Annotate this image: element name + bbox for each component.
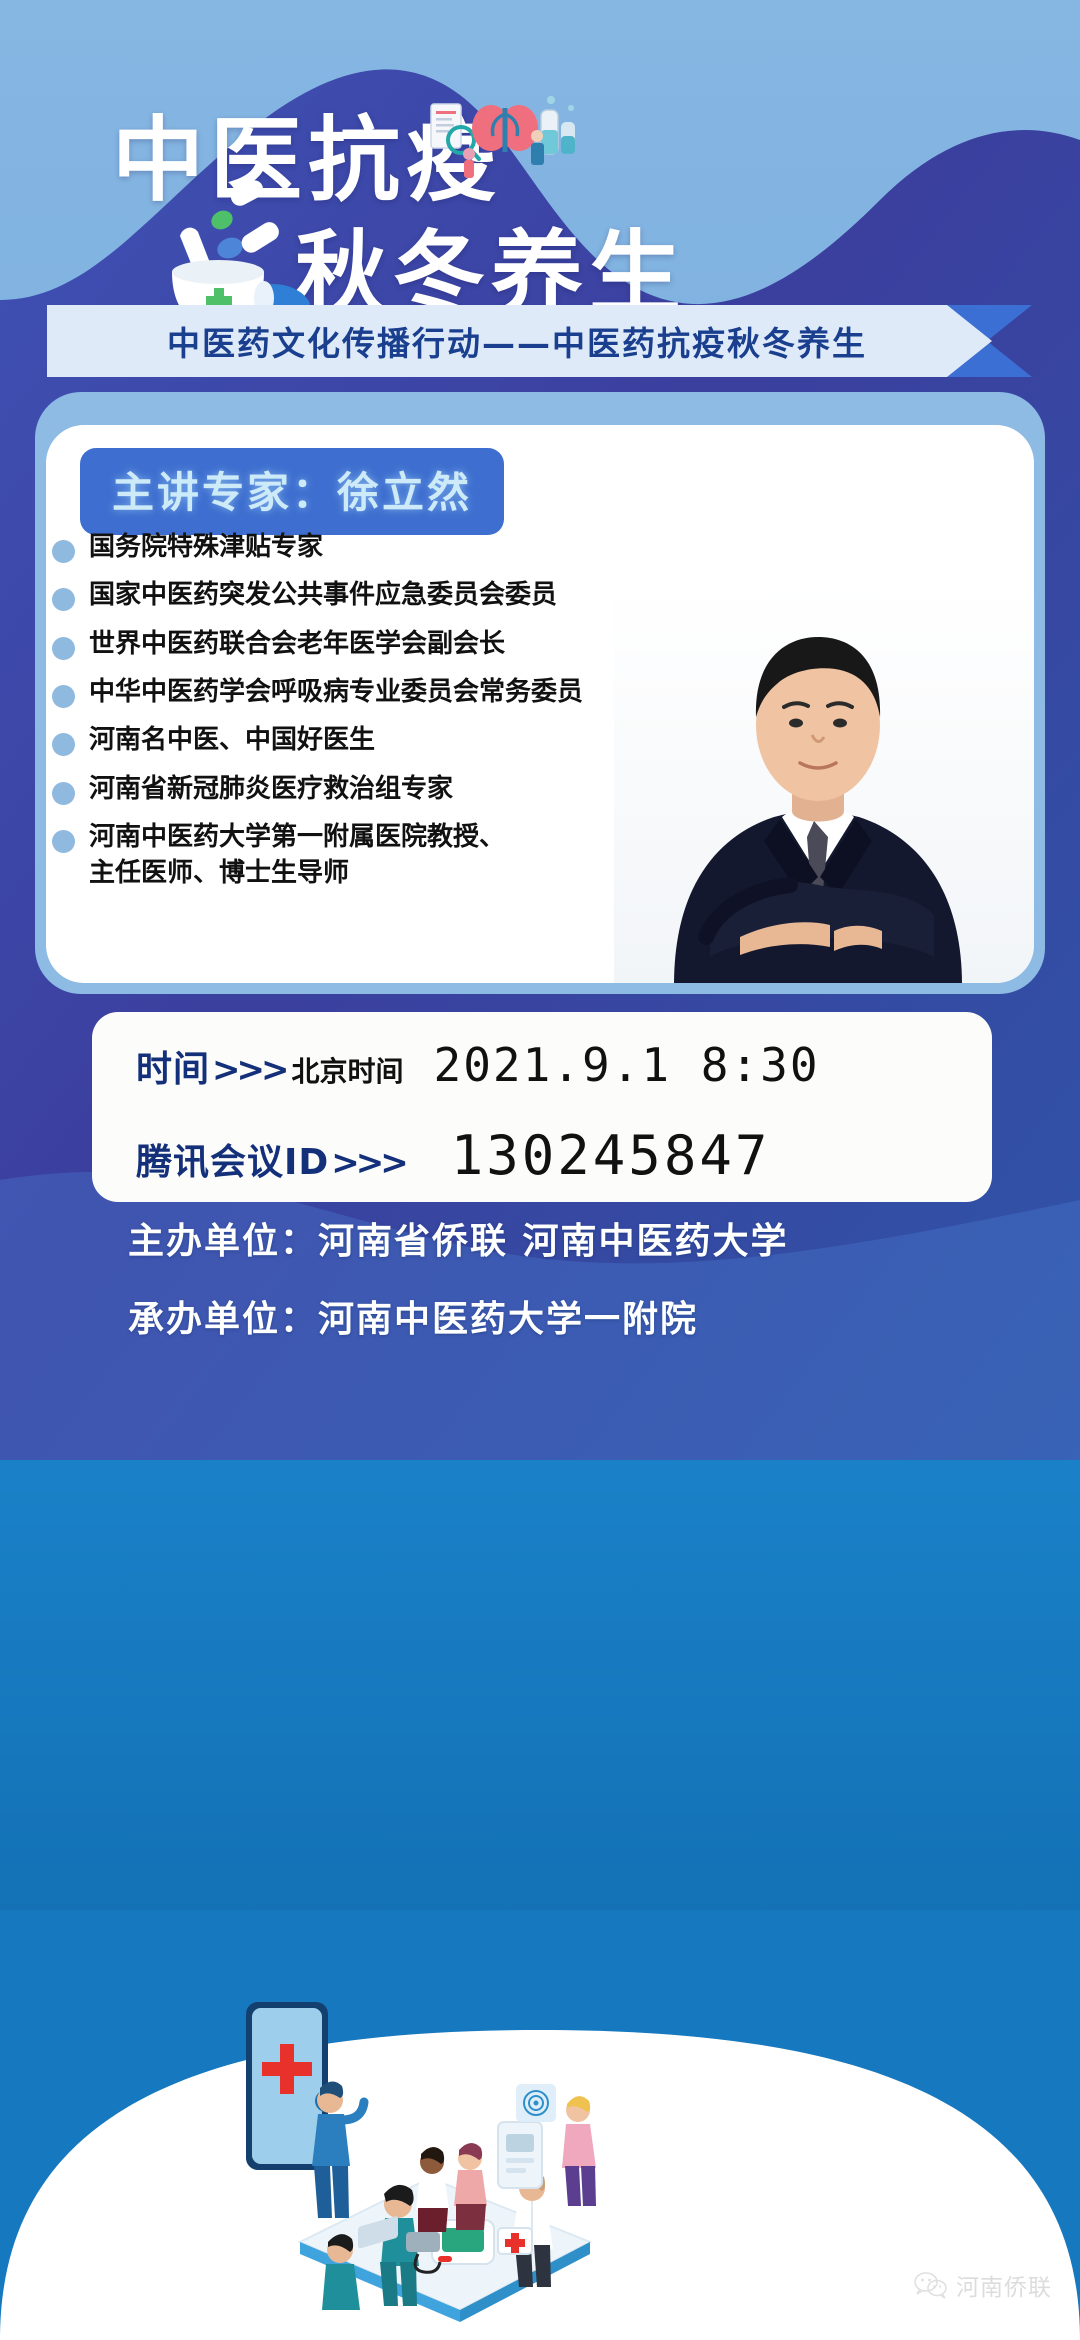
co-host-organizer: 承办单位：河南中医药大学一附院: [128, 1290, 698, 1342]
time-value: 2021.9.1 8:30: [434, 1038, 820, 1092]
timezone-label: 北京时间: [291, 1050, 403, 1090]
bullet-dot-icon: [52, 637, 75, 660]
subtitle-text: 中医药文化传播行动——中医药抗疫秋冬养生: [47, 305, 987, 377]
bullet-dot-icon: [52, 540, 75, 563]
credential-text: 河南中医药大学第一附属医院教授、 主任医师、博士生导师: [89, 820, 505, 891]
speaker-portrait: [614, 585, 1034, 983]
time-label: 时间: [136, 1040, 210, 1092]
watermark: 河南侨联: [914, 2268, 1052, 2302]
list-item: 中华中医药学会呼吸病专业委员会常务委员: [52, 675, 612, 710]
list-item: 国务院特殊津贴专家: [52, 530, 612, 565]
meeting-id-row: 腾讯会议ID >>> 130245847: [136, 1124, 770, 1187]
credential-text: 世界中医药联合会老年医学会副会长: [89, 627, 505, 662]
meeting-id-label: 腾讯会议ID: [136, 1133, 329, 1185]
arrows-icon: >>>: [331, 1143, 404, 1183]
medical-lab-illustration: [425, 88, 585, 180]
list-item: 世界中医药联合会老年医学会副会长: [52, 627, 612, 662]
arrows-icon: >>>: [212, 1050, 285, 1090]
speaker-name-chip: 主讲专家：徐立然: [80, 448, 504, 535]
credential-text: 河南名中医、中国好医生: [89, 723, 375, 758]
bullet-dot-icon: [52, 830, 75, 853]
credential-text: 中华中医药学会呼吸病专业委员会常务委员: [89, 675, 583, 710]
credential-text: 国务院特殊津贴专家: [89, 530, 323, 565]
bullet-dot-icon: [52, 733, 75, 756]
event-time-row: 时间 >>> 北京时间 2021.9.1 8:30: [136, 1038, 820, 1092]
bullet-dot-icon: [52, 685, 75, 708]
credentials-list: 国务院特殊津贴专家 国家中医药突发公共事件应急委员会委员 世界中医药联合会老年医…: [52, 530, 612, 904]
meeting-id-value[interactable]: 130245847: [451, 1124, 771, 1187]
bullet-dot-icon: [52, 588, 75, 611]
credential-text: 国家中医药突发公共事件应急委员会委员: [89, 578, 557, 613]
poster-root: 中医抗疫 秋冬养生: [0, 0, 1080, 2340]
list-item: 河南名中医、中国好医生: [52, 723, 612, 758]
telemedicine-illustration: [180, 1992, 610, 2322]
list-item: 河南中医药大学第一附属医院教授、 主任医师、博士生导师: [52, 820, 612, 891]
subtitle-ribbon: 中医药文化传播行动——中医药抗疫秋冬养生: [47, 305, 1032, 377]
host-organizer: 主办单位：河南省侨联 河南中医药大学: [128, 1212, 789, 1264]
list-item: 河南省新冠肺炎医疗救治组专家: [52, 772, 612, 807]
credential-text: 河南省新冠肺炎医疗救治组专家: [89, 772, 453, 807]
list-item: 国家中医药突发公共事件应急委员会委员: [52, 578, 612, 613]
event-info-box: 时间 >>> 北京时间 2021.9.1 8:30 腾讯会议ID >>> 130…: [92, 1012, 992, 1202]
watermark-label: 河南侨联: [956, 2268, 1052, 2302]
bullet-dot-icon: [52, 782, 75, 805]
wechat-icon: [914, 2271, 948, 2299]
